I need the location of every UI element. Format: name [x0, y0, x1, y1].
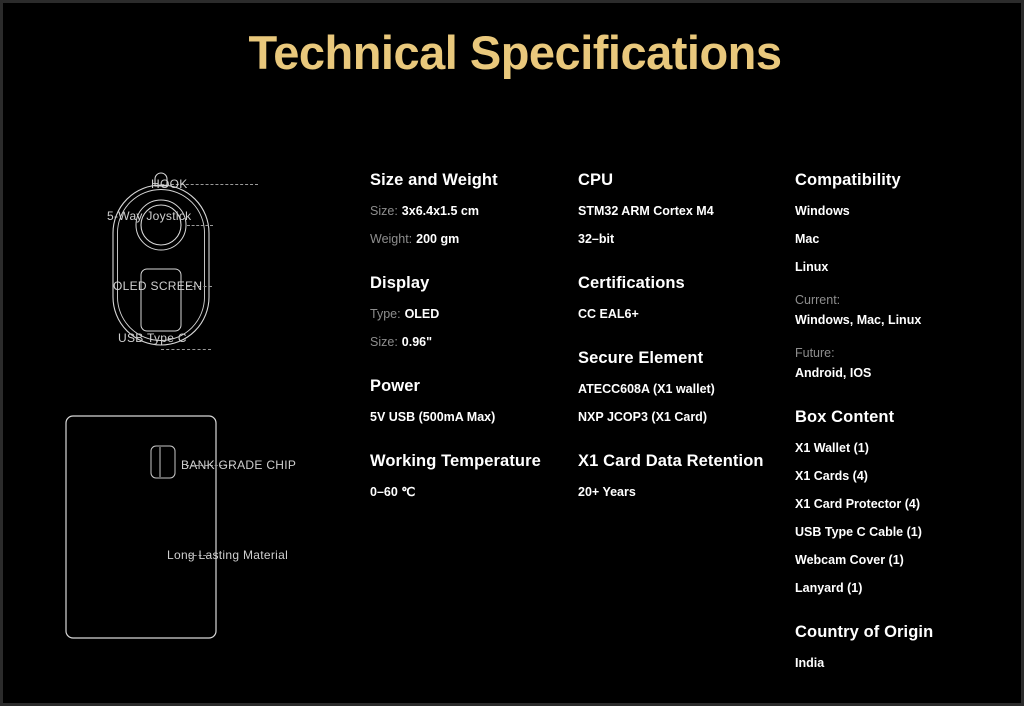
callout-long-lasting-material: Long Lasting Material	[167, 548, 288, 562]
spec-value: 200 gm	[416, 232, 459, 246]
group-display: Display Type:OLED Size:0.96"	[370, 274, 570, 350]
spec-column-3: Compatibility Windows Mac Linux Current:…	[795, 171, 1010, 671]
technical-specifications-page: Technical Specifications HOOK 5-Way Joys…	[0, 0, 1024, 706]
group-size-and-weight: Size and Weight Size:3x6.4x1.5 cm Weight…	[370, 171, 570, 247]
group-title-secure-element: Secure Element	[578, 349, 788, 368]
group-x1-card-data-retention: X1 Card Data Retention 20+ Years	[578, 452, 788, 500]
callout-joystick: 5-Way Joystick	[107, 209, 191, 223]
group-power: Power 5V USB (500mA Max)	[370, 377, 570, 425]
group-title-display: Display	[370, 274, 570, 293]
group-box-content: Box Content X1 Wallet (1) X1 Cards (4) X…	[795, 408, 1010, 596]
spec-value: Linux	[795, 260, 1010, 275]
spec-column-1: Size and Weight Size:3x6.4x1.5 cm Weight…	[370, 171, 570, 500]
group-title-compatibility: Compatibility	[795, 171, 1010, 190]
sub-label-future: Future:	[795, 346, 1010, 361]
spec-key: Type:	[370, 307, 401, 321]
spec-value: India	[795, 656, 1010, 671]
box-content-item: X1 Wallet (1)	[795, 441, 1010, 456]
page-title: Technical Specifications	[3, 27, 1024, 79]
spec-value: STM32 ARM Cortex M4	[578, 204, 788, 219]
spec-key: Size:	[370, 335, 398, 349]
spec-value: Windows, Mac, Linux	[795, 313, 1010, 328]
spec-value: NXP JCOP3 (X1 Card)	[578, 410, 788, 425]
spec-value: 0–60 ℃	[370, 485, 570, 500]
spec-value: 0.96"	[402, 335, 432, 349]
group-title-x1-card-data-retention: X1 Card Data Retention	[578, 452, 788, 471]
group-compatibility: Compatibility Windows Mac Linux Current:…	[795, 171, 1010, 381]
spec-value: CC EAL6+	[578, 307, 788, 322]
spec-key: Weight:	[370, 232, 412, 246]
product-diagrams: HOOK 5-Way Joystick OLED SCREEN USB Type…	[3, 153, 363, 673]
leader-line-joystick	[187, 225, 213, 226]
spec-key: Size:	[370, 204, 398, 218]
group-title-working-temperature: Working Temperature	[370, 452, 570, 471]
spec-value: Android, IOS	[795, 366, 1010, 381]
group-title-country-of-origin: Country of Origin	[795, 623, 1010, 642]
box-content-item: Webcam Cover (1)	[795, 553, 1010, 568]
spec-value: 20+ Years	[578, 485, 788, 500]
group-secure-element: Secure Element ATECC608A (X1 wallet) NXP…	[578, 349, 788, 425]
x1-card-illustration	[63, 413, 223, 643]
sub-label-current: Current:	[795, 293, 1010, 308]
box-content-item: Lanyard (1)	[795, 581, 1010, 596]
spec-value: Mac	[795, 232, 1010, 247]
spec-value: 32–bit	[578, 232, 788, 247]
spec-value: 5V USB (500mA Max)	[370, 410, 570, 425]
spec-row: Size:3x6.4x1.5 cm	[370, 204, 570, 219]
group-certifications: Certifications CC EAL6+	[578, 274, 788, 322]
group-title-power: Power	[370, 377, 570, 396]
group-title-certifications: Certifications	[578, 274, 788, 293]
group-country-of-origin: Country of Origin India	[795, 623, 1010, 671]
group-working-temperature: Working Temperature 0–60 ℃	[370, 452, 570, 500]
callout-oled-screen: OLED SCREEN	[113, 279, 202, 293]
spec-value: Windows	[795, 204, 1010, 219]
spec-value: OLED	[405, 307, 440, 321]
spec-value: 3x6.4x1.5 cm	[402, 204, 479, 218]
group-title-box-content: Box Content	[795, 408, 1010, 427]
leader-line-usb	[161, 349, 211, 350]
spec-column-2: CPU STM32 ARM Cortex M4 32–bit Certifica…	[578, 171, 788, 500]
box-content-item: USB Type C Cable (1)	[795, 525, 1010, 540]
spec-row: Type:OLED	[370, 307, 570, 322]
group-title-cpu: CPU	[578, 171, 788, 190]
spec-row: Size:0.96"	[370, 335, 570, 350]
callout-hook: HOOK	[151, 177, 188, 191]
box-content-item: X1 Cards (4)	[795, 469, 1010, 484]
group-cpu: CPU STM32 ARM Cortex M4 32–bit	[578, 171, 788, 247]
box-content-item: X1 Card Protector (4)	[795, 497, 1010, 512]
callout-usb-type-c: USB Type C	[118, 331, 187, 345]
spec-value: ATECC608A (X1 wallet)	[578, 382, 788, 397]
callout-bank-grade-chip: BANK GRADE CHIP	[181, 458, 296, 472]
spec-row: Weight:200 gm	[370, 232, 570, 247]
group-title-size-and-weight: Size and Weight	[370, 171, 570, 190]
